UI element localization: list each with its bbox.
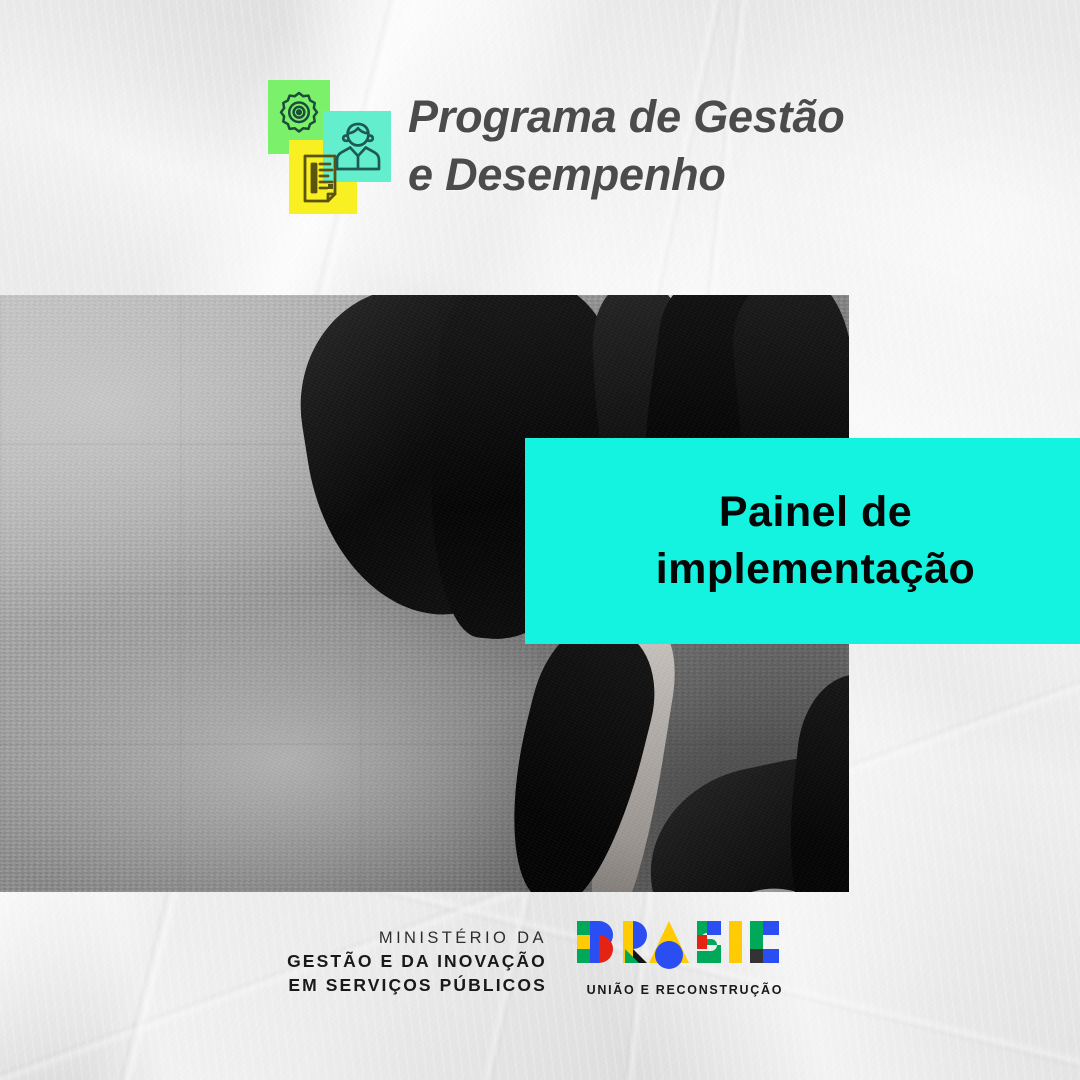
page-title: Programa de Gestão e Desempenho [408,88,878,204]
banner-line-1: Painel de [551,484,1080,541]
footer: MINISTÉRIO DA GESTÃO E DA INOVAÇÃO EM SE… [0,915,1080,1025]
person-icon [334,121,382,172]
program-title-line-2: e Desempenho [408,146,878,204]
brasil-tagline: UNIÃO E RECONSTRUÇÃO [577,983,793,997]
ministry-line-1: MINISTÉRIO DA [287,927,547,949]
header-block: Programa de Gestão e Desempenho [0,0,1080,295]
banner-text: Painel de implementação [525,484,1080,598]
program-title-line-1: Programa de Gestão [408,88,878,146]
ministry-line-3: EM SERVIÇOS PÚBLICOS [287,973,547,997]
brasil-wordmark-icon [577,921,793,977]
gear-icon [276,88,322,134]
banner-line-2: implementação [551,541,1080,598]
ministry-line-2: GESTÃO E DA INOVAÇÃO [287,949,547,973]
brasil-logo: UNIÃO E RECONSTRUÇÃO [577,915,793,997]
panel-title-banner: Painel de implementação [525,438,1080,644]
ministry-wordmark: MINISTÉRIO DA GESTÃO E DA INOVAÇÃO EM SE… [287,915,547,997]
program-logo-marks [268,80,388,198]
poster-canvas: Programa de Gestão e Desempenho Painel d… [0,0,1080,1080]
